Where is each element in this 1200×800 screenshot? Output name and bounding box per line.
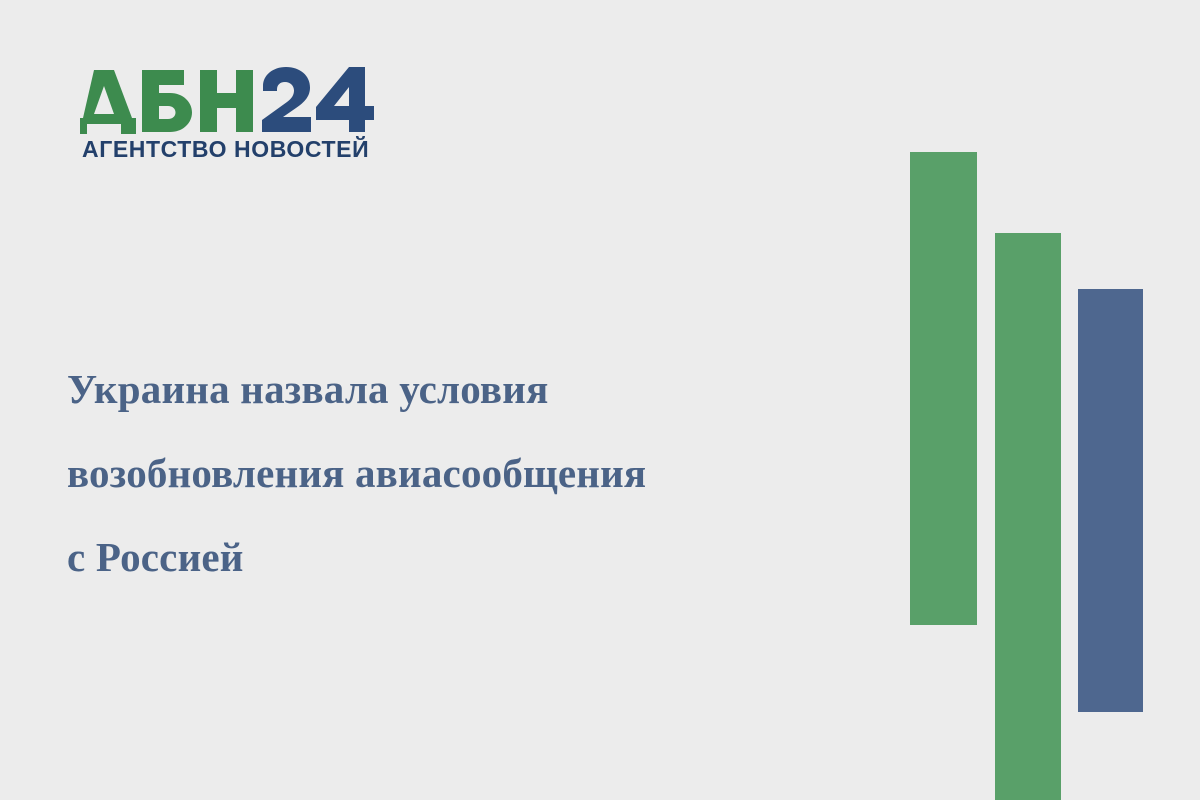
logo-letter-n-icon [200,70,253,132]
decorative-bar-2 [995,233,1061,800]
news-card-canvas: ДБН24 АГЕНТСТВО НОВОСТЕЙ АГЕНТСТВО НОВОС… [0,0,1200,800]
logo-letter-b-icon [142,70,192,132]
page-title: Украина назвала условия возобновления ав… [67,347,867,599]
abn24-logo[interactable]: ДБН24 АГЕНТСТВО НОВОСТЕЙ АГЕНТСТВО НОВОС… [80,62,380,162]
headline-line-3: с Россией [67,515,867,599]
logo-tagline-glyphs: АГЕНТСТВО НОВОСТЕЙ [82,135,369,162]
decorative-bar-1 [910,152,977,625]
headline-line-2: возобновления авиасообщения [67,431,867,515]
headline-line-1: Украина назвала условия [67,347,867,431]
logo-digit-4-icon [316,67,374,132]
logo-digit-2-icon [262,67,311,132]
decorative-bar-3 [1078,289,1143,712]
logo-letter-d-icon [80,70,136,134]
